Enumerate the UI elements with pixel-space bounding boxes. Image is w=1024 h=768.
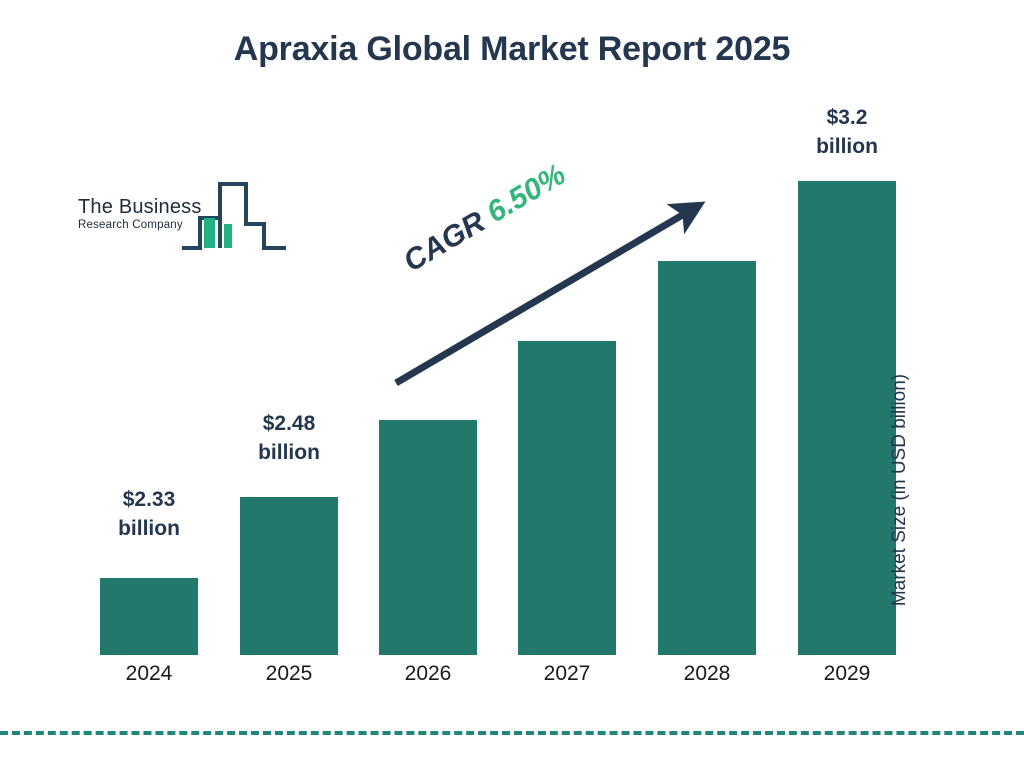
bar-chart-plot-area: $2.33 billion $2.48 billion $3.2 billion… (0, 0, 1024, 768)
value-label-2025-line1: $2.48 (224, 409, 354, 438)
xtick-2026: 2026 (379, 662, 477, 686)
value-label-2029: $3.2 billion (782, 103, 912, 161)
value-label-2024: $2.33 billion (84, 485, 214, 543)
chart-page: Apraxia Global Market Report 2025 The Bu… (0, 0, 1024, 768)
xtick-2029: 2029 (798, 662, 896, 686)
xtick-2025: 2025 (240, 662, 338, 686)
value-label-2024-line1: $2.33 (84, 485, 214, 514)
xtick-2024: 2024 (100, 662, 198, 686)
bar-2025[interactable] (240, 497, 338, 655)
value-label-2024-line2: billion (84, 514, 214, 543)
value-label-2029-line1: $3.2 (782, 103, 912, 132)
growth-arrow-icon (380, 190, 720, 405)
bar-2024[interactable] (100, 578, 198, 655)
value-label-2029-line2: billion (782, 132, 912, 161)
xtick-2028: 2028 (658, 662, 756, 686)
xtick-2027: 2027 (518, 662, 616, 686)
value-label-2025: $2.48 billion (224, 409, 354, 467)
value-label-2025-line2: billion (224, 438, 354, 467)
bar-2029[interactable] (798, 181, 896, 655)
bar-2026[interactable] (379, 420, 477, 655)
y-axis-label: Market Size (in USD billion) (889, 330, 911, 650)
bottom-divider (0, 731, 1024, 735)
